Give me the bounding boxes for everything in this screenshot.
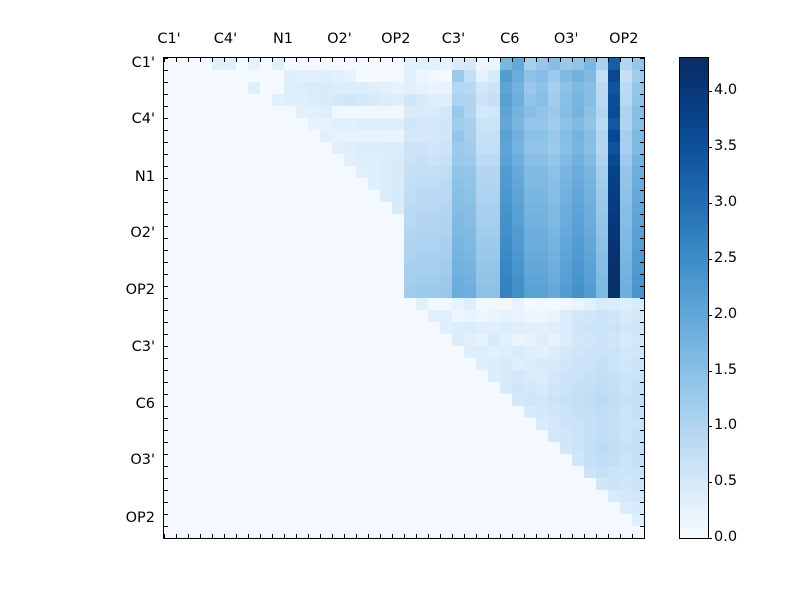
y-tick-mark — [640, 466, 644, 467]
x-tick-mark — [632, 534, 633, 538]
y-tick-mark — [640, 274, 644, 275]
y-tick-mark — [640, 238, 644, 239]
y-tick-mark — [164, 178, 168, 179]
x-tick-mark — [416, 58, 417, 62]
colorbar-tick-mark — [708, 371, 712, 372]
y-tick-mark — [640, 478, 644, 479]
y-tick-mark — [640, 334, 644, 335]
x-tick-mark — [428, 58, 429, 62]
y-tick-mark — [640, 154, 644, 155]
x-tick-mark — [332, 58, 333, 62]
y-tick-mark — [640, 394, 644, 395]
y-tick-mark — [640, 250, 644, 251]
x-tick-label: C3' — [442, 32, 465, 47]
y-tick-mark — [164, 142, 168, 143]
x-tick-mark — [236, 534, 237, 538]
y-tick-mark — [640, 538, 644, 539]
x-tick-mark — [248, 534, 249, 538]
x-tick-mark — [368, 58, 369, 62]
x-tick-mark — [476, 534, 477, 538]
x-tick-mark — [548, 58, 549, 62]
y-tick-mark — [164, 202, 168, 203]
x-tick-mark — [284, 58, 285, 62]
y-tick-mark — [640, 142, 644, 143]
colorbar-tick-mark — [708, 147, 712, 148]
x-tick-mark — [476, 58, 477, 62]
y-tick-mark — [640, 442, 644, 443]
y-tick-label: O2' — [100, 226, 155, 241]
x-tick-mark — [260, 534, 261, 538]
x-tick-mark — [584, 534, 585, 538]
y-tick-mark — [640, 178, 644, 179]
y-tick-mark — [640, 130, 644, 131]
y-tick-mark — [164, 454, 168, 455]
x-tick-mark — [608, 58, 609, 62]
x-tick-mark — [404, 534, 405, 538]
x-tick-mark — [464, 534, 465, 538]
heatmap-plot-area[interactable] — [163, 57, 645, 539]
x-tick-mark — [236, 58, 237, 62]
y-tick-mark — [164, 130, 168, 131]
y-tick-mark — [164, 82, 168, 83]
x-tick-mark — [644, 534, 645, 538]
x-tick-mark — [452, 58, 453, 62]
colorbar-tick-label: 2.5 — [714, 251, 737, 266]
y-tick-mark — [164, 394, 168, 395]
x-tick-mark — [644, 58, 645, 62]
y-tick-mark — [164, 346, 168, 347]
x-tick-mark — [584, 58, 585, 62]
y-tick-mark — [640, 214, 644, 215]
x-tick-mark — [560, 58, 561, 62]
y-tick-mark — [164, 466, 168, 467]
x-tick-label: O2' — [327, 32, 352, 47]
x-tick-mark — [416, 534, 417, 538]
x-tick-mark — [320, 58, 321, 62]
y-tick-mark — [640, 190, 644, 191]
x-tick-mark — [632, 58, 633, 62]
y-tick-mark — [164, 382, 168, 383]
heatmap-image — [164, 58, 644, 538]
x-tick-mark — [356, 534, 357, 538]
colorbar-tick-mark — [708, 482, 712, 483]
y-tick-mark — [640, 454, 644, 455]
x-tick-mark — [224, 534, 225, 538]
x-tick-mark — [260, 58, 261, 62]
x-tick-mark — [572, 58, 573, 62]
x-tick-mark — [248, 58, 249, 62]
x-tick-mark — [308, 58, 309, 62]
y-tick-mark — [640, 370, 644, 371]
colorbar-tick-label: 0.5 — [714, 474, 737, 489]
x-tick-mark — [440, 58, 441, 62]
x-tick-mark — [176, 58, 177, 62]
x-tick-mark — [200, 534, 201, 538]
y-tick-mark — [640, 418, 644, 419]
y-tick-mark — [640, 358, 644, 359]
y-tick-mark — [164, 106, 168, 107]
x-tick-mark — [560, 534, 561, 538]
y-tick-mark — [640, 202, 644, 203]
colorbar-tick-label: 4.0 — [714, 83, 737, 98]
y-tick-mark — [164, 226, 168, 227]
y-tick-mark — [164, 238, 168, 239]
x-tick-mark — [344, 58, 345, 62]
y-tick-mark — [164, 322, 168, 323]
y-tick-mark — [640, 82, 644, 83]
y-tick-mark — [164, 478, 168, 479]
y-tick-mark — [164, 514, 168, 515]
x-tick-mark — [620, 58, 621, 62]
colorbar-tick-label: 0.0 — [714, 530, 737, 545]
x-tick-mark — [536, 534, 537, 538]
x-tick-mark — [296, 58, 297, 62]
x-tick-mark — [524, 534, 525, 538]
x-tick-mark — [572, 534, 573, 538]
y-tick-mark — [164, 430, 168, 431]
x-tick-mark — [488, 534, 489, 538]
x-tick-mark — [356, 58, 357, 62]
colorbar-tick-label: 2.0 — [714, 306, 737, 321]
x-tick-mark — [404, 58, 405, 62]
y-tick-label: OP2 — [100, 283, 155, 298]
y-tick-mark — [640, 58, 644, 59]
x-tick-mark — [212, 534, 213, 538]
y-tick-mark — [640, 94, 644, 95]
colorbar-gradient — [680, 58, 708, 538]
x-tick-label: C1' — [157, 32, 180, 47]
y-tick-label: C1' — [100, 56, 155, 71]
x-tick-mark — [188, 58, 189, 62]
y-tick-mark — [640, 322, 644, 323]
x-tick-mark — [308, 534, 309, 538]
x-tick-mark — [596, 58, 597, 62]
x-tick-mark — [272, 58, 273, 62]
y-tick-mark — [164, 502, 168, 503]
y-tick-mark — [640, 286, 644, 287]
y-tick-mark — [164, 70, 168, 71]
y-tick-mark — [164, 250, 168, 251]
x-tick-mark — [500, 58, 501, 62]
colorbar-tick-label: 3.5 — [714, 139, 737, 154]
x-tick-mark — [524, 58, 525, 62]
x-tick-mark — [512, 58, 513, 62]
x-tick-mark — [620, 534, 621, 538]
x-tick-label: OP2 — [609, 32, 638, 47]
y-tick-mark — [640, 430, 644, 431]
y-tick-mark — [164, 526, 168, 527]
y-tick-mark — [164, 58, 168, 59]
x-tick-mark — [296, 534, 297, 538]
y-tick-mark — [164, 358, 168, 359]
x-tick-mark — [188, 534, 189, 538]
x-tick-mark — [440, 534, 441, 538]
x-tick-mark — [332, 534, 333, 538]
x-tick-mark — [392, 58, 393, 62]
colorbar-tick-mark — [708, 259, 712, 260]
x-tick-mark — [176, 534, 177, 538]
colorbar-tick-label: 3.0 — [714, 195, 737, 210]
x-tick-mark — [464, 58, 465, 62]
y-tick-mark — [164, 490, 168, 491]
y-tick-mark — [164, 442, 168, 443]
y-tick-mark — [640, 298, 644, 299]
x-tick-mark — [392, 534, 393, 538]
x-tick-mark — [380, 58, 381, 62]
x-tick-label: N1 — [273, 32, 293, 47]
y-tick-mark — [640, 166, 644, 167]
colorbar-tick-mark — [708, 91, 712, 92]
x-tick-label: C4' — [214, 32, 237, 47]
y-tick-mark — [640, 382, 644, 383]
y-tick-mark — [640, 106, 644, 107]
colorbar-tick-mark — [708, 426, 712, 427]
y-tick-mark — [164, 538, 168, 539]
y-tick-mark — [164, 118, 168, 119]
y-tick-mark — [640, 526, 644, 527]
y-tick-label: C6 — [100, 397, 155, 412]
figure-canvas: C1'C4'N1O2'OP2C3'C6O3'OP2 C1'C4'N1O2'OP2… — [0, 0, 800, 600]
y-tick-mark — [164, 262, 168, 263]
x-tick-mark — [284, 534, 285, 538]
colorbar-tick-label: 1.5 — [714, 362, 737, 377]
x-tick-mark — [212, 58, 213, 62]
x-tick-mark — [500, 534, 501, 538]
y-tick-mark — [640, 310, 644, 311]
colorbar-tick-mark — [708, 203, 712, 204]
x-tick-label: C6 — [500, 32, 519, 47]
x-tick-mark — [200, 58, 201, 62]
y-tick-mark — [640, 490, 644, 491]
y-tick-mark — [164, 94, 168, 95]
colorbar-tick-label: 1.0 — [714, 418, 737, 433]
x-tick-mark — [548, 534, 549, 538]
colorbar[interactable] — [679, 57, 709, 539]
y-tick-label: C3' — [100, 340, 155, 355]
x-tick-mark — [368, 534, 369, 538]
y-tick-mark — [640, 262, 644, 263]
y-tick-mark — [164, 418, 168, 419]
colorbar-tick-mark — [708, 315, 712, 316]
x-tick-mark — [536, 58, 537, 62]
x-tick-mark — [320, 534, 321, 538]
y-tick-mark — [640, 406, 644, 407]
y-tick-mark — [164, 214, 168, 215]
y-tick-mark — [164, 406, 168, 407]
y-tick-mark — [640, 226, 644, 227]
y-tick-mark — [640, 118, 644, 119]
x-tick-label: O3' — [554, 32, 579, 47]
x-tick-mark — [380, 534, 381, 538]
y-tick-mark — [164, 274, 168, 275]
x-tick-mark — [452, 534, 453, 538]
y-tick-label: O3' — [100, 453, 155, 468]
y-tick-mark — [640, 346, 644, 347]
x-tick-mark — [488, 58, 489, 62]
y-tick-label: C4' — [100, 112, 155, 127]
colorbar-tick-mark — [708, 538, 712, 539]
y-tick-mark — [164, 370, 168, 371]
y-tick-mark — [164, 154, 168, 155]
y-tick-mark — [164, 334, 168, 335]
x-tick-label: OP2 — [381, 32, 410, 47]
x-tick-mark — [344, 534, 345, 538]
x-tick-mark — [272, 534, 273, 538]
x-tick-mark — [608, 534, 609, 538]
y-tick-mark — [164, 190, 168, 191]
y-tick-mark — [640, 502, 644, 503]
x-tick-mark — [224, 58, 225, 62]
x-tick-mark — [512, 534, 513, 538]
y-tick-mark — [164, 310, 168, 311]
y-tick-mark — [640, 70, 644, 71]
x-tick-mark — [428, 534, 429, 538]
y-tick-label: OP2 — [100, 511, 155, 526]
y-tick-mark — [640, 514, 644, 515]
y-tick-mark — [164, 166, 168, 167]
y-tick-mark — [164, 298, 168, 299]
y-tick-mark — [164, 286, 168, 287]
y-tick-label: N1 — [100, 170, 155, 185]
x-tick-mark — [596, 534, 597, 538]
